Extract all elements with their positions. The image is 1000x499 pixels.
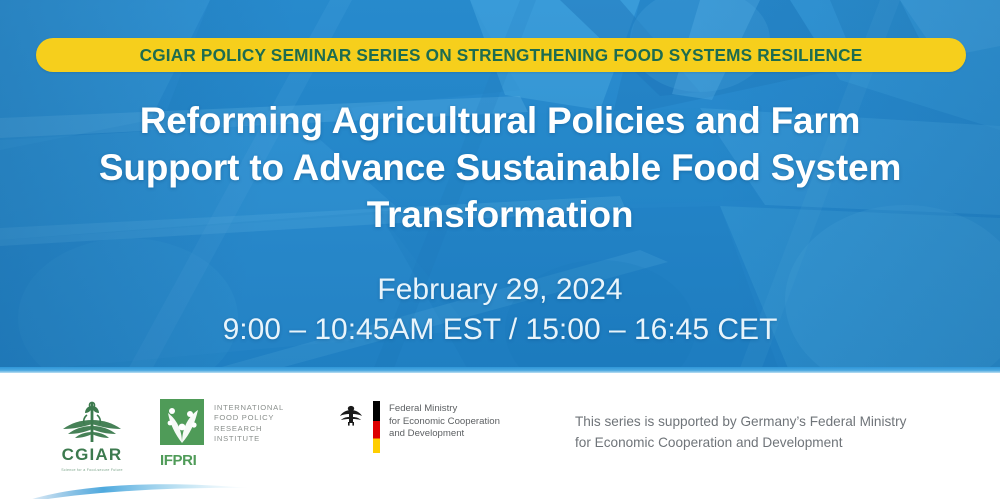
event-time: 9:00 – 10:45AM EST / 15:00 – 16:45 CET xyxy=(0,310,1000,350)
series-eyebrow-pill: CGIAR POLICY SEMINAR SERIES ON STRENGTHE… xyxy=(36,38,966,72)
cgiar-tagline: Science for a Food-secure Future xyxy=(40,468,144,472)
support-line-2: for Economic Cooperation and Development xyxy=(575,432,906,453)
ifpri-name-line-4: INSTITUTE xyxy=(214,434,284,444)
event-date: February 29, 2024 xyxy=(0,270,1000,310)
bmz-line-2: for Economic Cooperation xyxy=(389,416,500,429)
support-line-1: This series is supported by Germany’s Fe… xyxy=(575,411,906,432)
bmz-line-3: and Development xyxy=(389,428,500,441)
title-line-2: Support to Advance Sustainable Food Syst… xyxy=(0,144,1000,191)
cgiar-logo: CGIAR Science for a Food-secure Future xyxy=(40,398,144,476)
cgiar-wheat-icon xyxy=(61,398,123,444)
ifpri-name-line-3: RESEARCH xyxy=(214,424,284,434)
series-eyebrow-label: CGIAR POLICY SEMINAR SERIES ON STRENGTHE… xyxy=(140,45,863,66)
title-line-3: Transformation xyxy=(0,191,1000,238)
page-title: Reforming Agricultural Policies and Farm… xyxy=(0,97,1000,238)
footer-logo-bar: CGIAR Science for a Food-secure Future xyxy=(0,373,1000,499)
ifpri-name-line-2: FOOD POLICY xyxy=(214,413,284,423)
bmz-logo: Federal Ministry for Economic Cooperatio… xyxy=(338,401,528,459)
ifpri-logo: IFPRI INTERNATIONAL FOOD POLICY RESEARCH… xyxy=(160,399,300,465)
german-federal-eagle-icon xyxy=(338,401,364,427)
event-datetime: February 29, 2024 9:00 – 10:45AM EST / 1… xyxy=(0,270,1000,350)
bmz-line-1: Federal Ministry xyxy=(389,403,500,416)
decorative-swoosh xyxy=(20,481,250,499)
ifpri-wordmark: IFPRI xyxy=(160,452,206,469)
german-flag-bar-icon xyxy=(373,401,380,453)
ifpri-tree-icon xyxy=(160,399,204,445)
ifpri-name-line-1: INTERNATIONAL xyxy=(214,403,284,413)
support-statement: This series is supported by Germany’s Fe… xyxy=(575,411,906,453)
title-line-1: Reforming Agricultural Policies and Farm xyxy=(0,97,1000,144)
seminar-poster: CGIAR POLICY SEMINAR SERIES ON STRENGTHE… xyxy=(0,0,1000,499)
hero-banner: CGIAR POLICY SEMINAR SERIES ON STRENGTHE… xyxy=(0,0,1000,373)
cgiar-wordmark: CGIAR xyxy=(40,445,144,465)
